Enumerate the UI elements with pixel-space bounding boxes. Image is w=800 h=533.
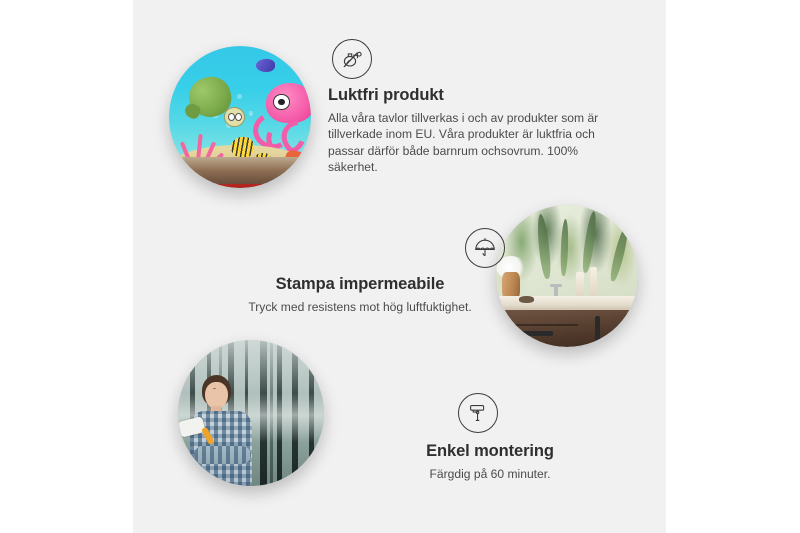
umbrella-icon — [465, 228, 505, 268]
icon-wrapper — [328, 39, 646, 79]
icon-wrapper — [345, 393, 635, 433]
product-image-sea[interactable] — [169, 46, 311, 188]
lamp — [277, 184, 291, 187]
sea-scene — [169, 46, 311, 188]
feature-odour-free: Luktfri produkt Alla våra tavlor tillver… — [328, 39, 646, 176]
feature-text: Färgdig på 60 minuter. — [345, 466, 635, 482]
paint-roller-icon — [458, 393, 498, 433]
wooden-vanity — [505, 310, 638, 347]
turtle-illustration — [187, 77, 244, 128]
cabinet-handle — [595, 316, 599, 342]
drawer-line — [507, 324, 578, 326]
forest-scene — [178, 340, 324, 486]
yellow-fish-icon — [231, 137, 254, 158]
icon-wrapper — [195, 228, 525, 268]
feature-text: Alla våra tavlor tillverkas i och av pro… — [328, 110, 628, 176]
purple-fish-icon — [256, 59, 276, 72]
room-interior-strip — [169, 157, 311, 188]
feature-waterproof: Stampa impermeabile Tryck med resistens … — [195, 228, 525, 315]
feature-text: Tryck med resistens mot hög luftfuktighe… — [195, 299, 525, 315]
octopus-eye — [273, 94, 289, 110]
toiletry-bottle — [576, 272, 585, 299]
turtle-head — [224, 107, 245, 127]
content-panel: Luktfri produkt Alla våra tavlor tillver… — [133, 0, 666, 533]
feature-title: Enkel montering — [345, 442, 635, 461]
woman-with-roller — [184, 375, 266, 486]
feature-title: Stampa impermeabile — [195, 275, 525, 294]
feature-title: Luktfri produkt — [328, 86, 646, 105]
screenshot-canvas: Luktfri produkt Alla våra tavlor tillver… — [0, 0, 800, 533]
no-fragrance-icon — [332, 39, 372, 79]
feature-easy-mounting: Enkel montering Färgdig på 60 minuter. — [345, 393, 635, 482]
toiletry-bottle — [590, 267, 597, 298]
product-image-forest[interactable] — [178, 340, 324, 486]
smile — [213, 388, 216, 389]
octopus-illustration — [251, 83, 311, 148]
crossed-arms — [194, 446, 251, 464]
sofa — [212, 184, 272, 188]
drawer-handle — [519, 331, 553, 336]
